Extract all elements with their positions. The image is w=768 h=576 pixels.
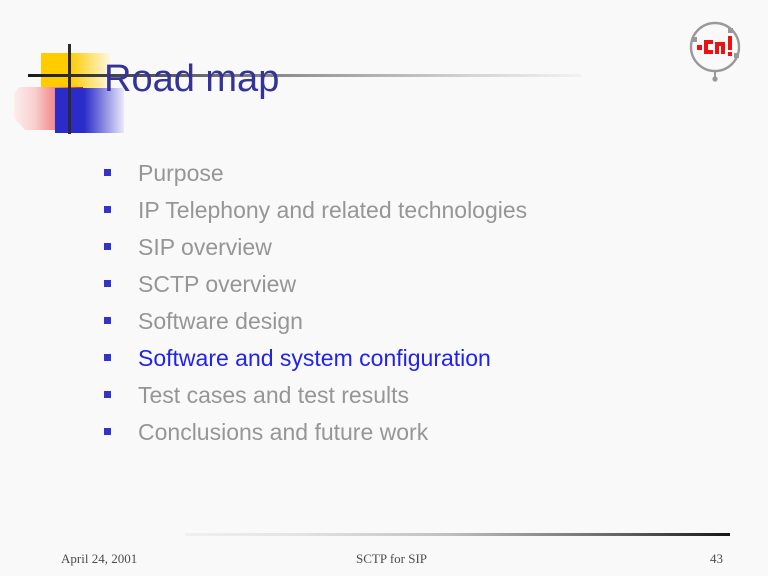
bullet-square-icon — [104, 354, 111, 361]
bullet-square-icon — [104, 391, 111, 398]
bullet-square-icon — [104, 428, 111, 435]
list-item-label: Software and system configuration — [138, 345, 491, 372]
vertical-rule-icon — [68, 44, 71, 134]
list-item: SCTP overview — [104, 271, 724, 308]
bullet-square-icon — [104, 280, 111, 287]
slide-title: Road map — [104, 58, 279, 101]
bullet-square-icon — [104, 169, 111, 176]
list-item-label: Test cases and test results — [138, 382, 409, 409]
bullet-square-icon — [104, 317, 111, 324]
bullet-square-icon — [104, 206, 111, 213]
list-item-label: Software design — [138, 308, 303, 335]
list-item-label: IP Telephony and related technologies — [138, 197, 527, 224]
list-item: Software design — [104, 308, 724, 345]
footer-date: April 24, 2001 — [61, 551, 137, 567]
list-item: Purpose — [104, 160, 724, 197]
footer-rule — [185, 533, 730, 536]
list-item-label: Purpose — [138, 160, 224, 187]
bullet-square-icon — [104, 243, 111, 250]
footer-presentation-title: SCTP for SIP — [356, 551, 427, 567]
list-item-label: Conclusions and future work — [138, 419, 428, 446]
list-item: Test cases and test results — [104, 382, 724, 419]
list-item: Conclusions and future work — [104, 419, 724, 456]
cnl-logo — [684, 18, 746, 84]
footer-page-number: 43 — [710, 551, 723, 567]
list-item-label: SCTP overview — [138, 271, 296, 298]
bullet-list: Purpose IP Telephony and related technol… — [104, 160, 724, 456]
presentation-slide: Road map Purpose IP Telephony and relate… — [0, 0, 768, 576]
cnl-logo-icon — [684, 18, 746, 84]
list-item-label: SIP overview — [138, 234, 272, 261]
list-item: IP Telephony and related technologies — [104, 197, 724, 234]
list-item-highlighted: Software and system configuration — [104, 345, 724, 382]
list-item: SIP overview — [104, 234, 724, 271]
